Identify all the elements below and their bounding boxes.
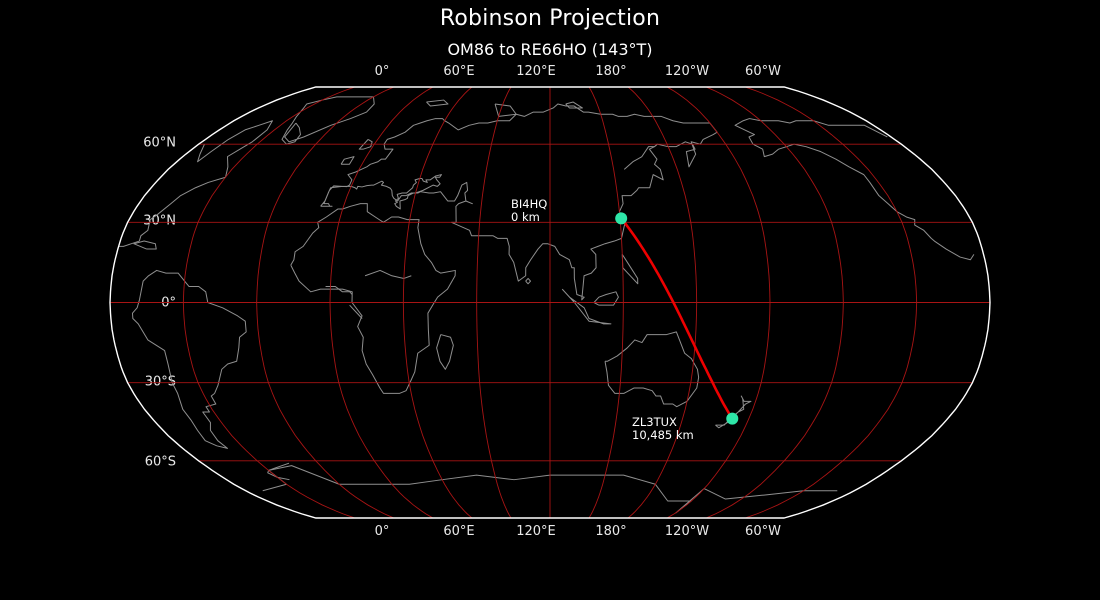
graticule-layer: [110, 87, 990, 518]
lon-tick-top-60w: 60°W: [745, 64, 781, 79]
lon-tick-bottom-60e: 60°E: [443, 524, 474, 539]
point-label-b-call: ZL3TUX: [632, 415, 677, 429]
lon-tick-top-120e: 120°E: [516, 64, 556, 79]
lon-tick-top-60e: 60°E: [443, 64, 474, 79]
lon-tick-bottom-60w: 60°W: [745, 524, 781, 539]
map-figure: Robinson Projection OM86 to RE66HO (143°…: [0, 0, 1100, 600]
point-label-b-distance: 10,485 km: [632, 429, 694, 442]
lon-tick-bottom-0: 0°: [375, 524, 390, 539]
point-label-a-call: BI4HQ: [511, 197, 547, 211]
map-svg: [110, 87, 990, 518]
marker-layer: [615, 212, 738, 424]
map-marker-destination[interactable]: [726, 413, 738, 425]
lon-tick-top-0: 0°: [375, 64, 390, 79]
point-label-a-distance: 0 km: [511, 211, 547, 224]
lon-tick-top-180: 180°: [595, 64, 626, 79]
map-marker-origin[interactable]: [615, 212, 627, 224]
great-circle-path-layer: [621, 218, 732, 418]
page-subtitle: OM86 to RE66HO (143°T): [0, 40, 1100, 59]
point-label-b: ZL3TUX 10,485 km: [632, 416, 694, 441]
lon-tick-bottom-180: 180°: [595, 524, 626, 539]
page-title: Robinson Projection: [0, 6, 1100, 31]
lon-tick-bottom-120e: 120°E: [516, 524, 556, 539]
point-label-a: BI4HQ 0 km: [511, 198, 547, 223]
lon-tick-bottom-120w: 120°W: [665, 524, 709, 539]
lon-tick-top-120w: 120°W: [665, 64, 709, 79]
map-canvas: [110, 87, 990, 518]
